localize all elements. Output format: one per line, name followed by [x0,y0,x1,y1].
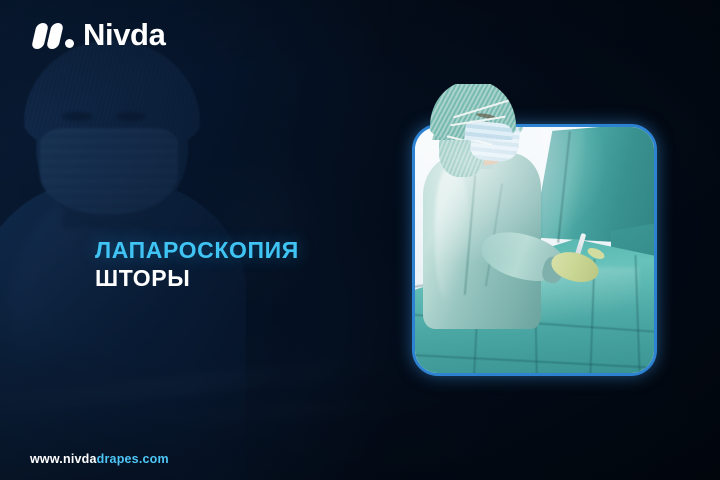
product-photo-card[interactable] [412,124,657,376]
headline-line-2: ШТОРЫ [95,264,299,292]
url-prefix: www.nivda [30,452,97,466]
nivda-monogram-icon [34,21,74,49]
brand-name: Nivda [83,19,165,50]
surgeon-head-overflow [428,84,520,140]
surgeon-figure [419,127,555,351]
promo-banner: Nivda ЛАПАРОСКОПИЯ ШТОРЫ [0,0,720,480]
headline-block: ЛАПАРОСКОПИЯ ШТОРЫ [95,236,299,292]
website-url[interactable]: www.nivdadrapes.com [30,452,169,466]
monogram-bar [46,23,64,49]
url-suffix: drapes.com [97,452,169,466]
brand-logo[interactable]: Nivda [34,19,165,50]
headline-line-1: ЛАПАРОСКОПИЯ [95,236,299,264]
product-photo-image [415,127,654,373]
product-photo-frame [412,124,657,376]
surgeon-head-overflow-inner [428,84,520,140]
monogram-dot [65,39,74,48]
